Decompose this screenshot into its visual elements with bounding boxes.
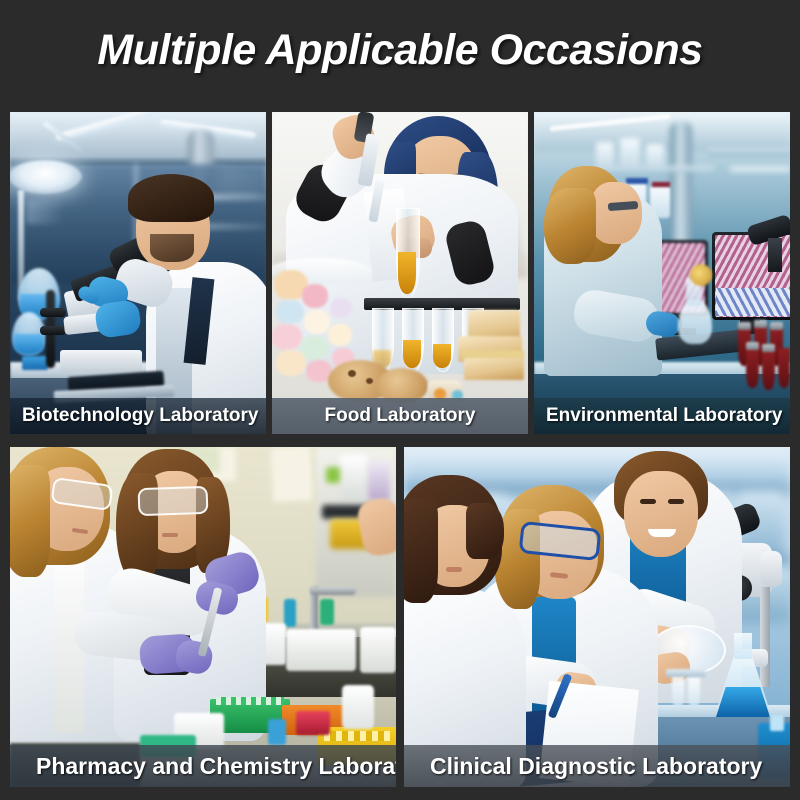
caption-text: Environmental Laboratory (546, 405, 783, 427)
panel-caption-environmental: Environmental Laboratory (534, 398, 790, 434)
panel-biotechnology[interactable]: Biotechnology Laboratory (10, 112, 266, 434)
occasions-gallery: Biotechnology Laboratory (0, 100, 800, 800)
food-lab-photo (272, 112, 528, 434)
panel-environmental[interactable]: Environmental Laboratory (534, 112, 790, 434)
caption-text: Biotechnology Laboratory (22, 405, 258, 427)
pharmacy-chemistry-lab-photo (10, 447, 396, 787)
panel-caption-biotechnology: Biotechnology Laboratory (10, 398, 266, 434)
environmental-lab-photo (534, 112, 790, 434)
page-title: Multiple Applicable Occasions (97, 26, 702, 75)
panel-pharmacy-chemistry[interactable]: Pharmacy and Chemistry Laboratory (10, 447, 396, 787)
panel-caption-clinical-diagnostic: Clinical Diagnostic Laboratory (404, 745, 790, 787)
caption-text: Food Laboratory (325, 405, 476, 427)
caption-text: Clinical Diagnostic Laboratory (430, 753, 762, 780)
panel-caption-food: Food Laboratory (272, 398, 528, 434)
panel-food[interactable]: Food Laboratory (272, 112, 528, 434)
panel-clinical-diagnostic[interactable]: Clinical Diagnostic Laboratory (404, 447, 790, 787)
clinical-diagnostic-lab-photo (404, 447, 790, 787)
header-bar: Multiple Applicable Occasions (0, 0, 800, 100)
panel-caption-pharmacy-chemistry: Pharmacy and Chemistry Laboratory (10, 745, 396, 787)
caption-text: Pharmacy and Chemistry Laboratory (36, 753, 396, 780)
biotechnology-lab-photo (10, 112, 266, 434)
